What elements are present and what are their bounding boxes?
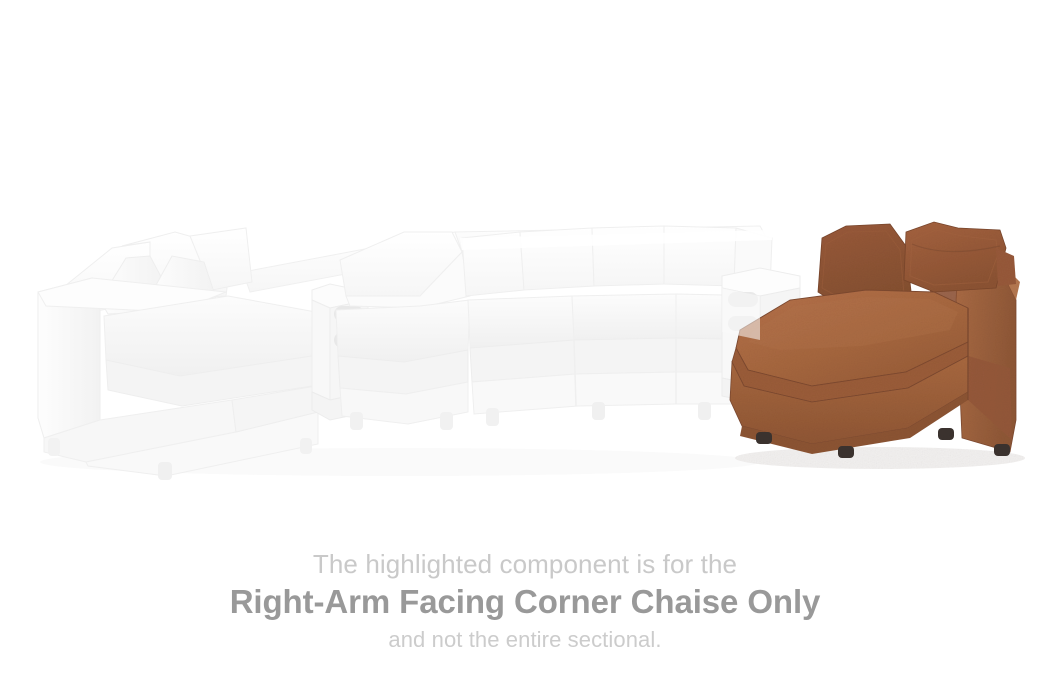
caption-line-1: The highlighted component is for the <box>0 548 1050 580</box>
product-image-canvas: The highlighted component is for the Rig… <box>0 0 1050 700</box>
chaise-back-pillow <box>904 222 1006 292</box>
ghost-sectional <box>38 226 800 480</box>
sofa-diagram <box>0 0 1050 530</box>
chaise-foot <box>994 444 1010 456</box>
sectional-illustration <box>0 0 1050 530</box>
caption-component-name: Right-Arm Facing Corner Chaise Only <box>0 582 1050 622</box>
chaise-foot <box>756 432 772 444</box>
chaise-foot <box>838 446 854 458</box>
highlighted-right-arm-facing-corner-chaise <box>730 222 1025 469</box>
ghost-console-overlap <box>722 288 760 340</box>
caption-block: The highlighted component is for the Rig… <box>0 548 1050 655</box>
chaise-foot <box>938 428 954 440</box>
caption-line-3: and not the entire sectional. <box>0 625 1050 655</box>
ghost-corner-wedge <box>336 232 470 430</box>
